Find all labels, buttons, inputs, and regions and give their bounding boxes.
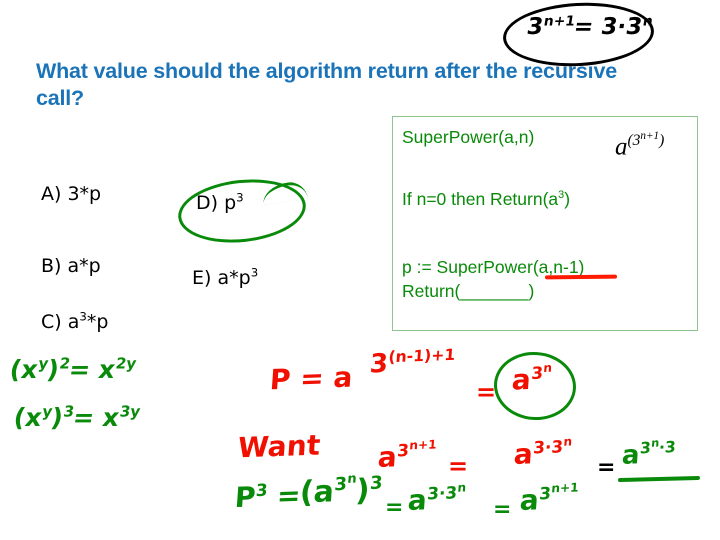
option-e-label: E) bbox=[192, 267, 211, 289]
p-eq-a: a bbox=[332, 361, 353, 395]
handwriting-p-cubed-equals-1: = bbox=[385, 495, 403, 520]
handwriting-p-equals: P = a bbox=[270, 362, 352, 395]
option-c-tail: *p bbox=[87, 311, 109, 333]
handwriting-want-lhs: a3n+1 bbox=[378, 440, 436, 473]
option-b-label: B) bbox=[41, 255, 61, 277]
p3-p: P bbox=[234, 480, 257, 514]
option-a-label: A) bbox=[41, 183, 61, 205]
p3-r1-exp-sup: n bbox=[457, 480, 467, 494]
p3-sup: 3 bbox=[255, 480, 268, 500]
p3-close-sup: 3 bbox=[369, 473, 383, 494]
green-underline-annotation bbox=[618, 476, 700, 482]
answer-option-b[interactable]: B) a*p bbox=[41, 255, 101, 277]
handwriting-p-equals-sign: = bbox=[476, 378, 496, 406]
formula-exp-close: ) bbox=[659, 132, 664, 149]
rule1-sup3: 2y bbox=[114, 355, 137, 373]
handwriting-p-cubed-result-2: a3n+1 bbox=[520, 483, 578, 516]
rule2-sup3: 3y bbox=[118, 403, 141, 421]
p3-r2-exp-base: 3n+1 bbox=[539, 482, 579, 503]
handwriting-p-cubed-result-1: a3·3n bbox=[408, 483, 465, 516]
code-base-case-post: ) bbox=[564, 189, 570, 209]
want-text: Want bbox=[237, 429, 322, 465]
handwriting-want-rhs: a3·3n bbox=[514, 437, 571, 470]
code-line-base-case: If n=0 then Return(a3) bbox=[402, 189, 570, 210]
want-green-a: a bbox=[621, 440, 641, 471]
slide-canvas: What value should the algorithm return a… bbox=[0, 0, 720, 540]
want-lhs-exp-base: 3n+1 bbox=[397, 439, 437, 460]
superpower-result-formula: a(3n+1) bbox=[615, 123, 664, 160]
top-annotation-eq: = 3·3 bbox=[572, 14, 644, 40]
answer-option-c[interactable]: C) a3*p bbox=[41, 311, 108, 333]
green-circle-annotation-result bbox=[492, 349, 579, 423]
p-exp-base: 3 bbox=[369, 349, 389, 380]
option-c-exponent: 3 bbox=[79, 310, 87, 324]
option-b-text: a*p bbox=[68, 255, 101, 277]
want-rhs-exp-base: 3·3n bbox=[533, 436, 573, 457]
p-exp-sup: (n-1)+1 bbox=[388, 346, 456, 366]
handwriting-exponent-rule-square: (xy)2= x2y bbox=[10, 355, 135, 384]
want-lhs-a: a bbox=[377, 440, 398, 474]
handwriting-p-cubed-parenthetical: (a3n)3 bbox=[300, 474, 382, 509]
handwriting-exponent-rule-cube: (xy)3= x3y bbox=[14, 403, 139, 432]
rule2-eq: = x bbox=[71, 403, 121, 432]
handwriting-p-exponent: 3(n-1)+1 bbox=[370, 348, 455, 378]
handwriting-p-cubed-equals-2: = bbox=[493, 497, 511, 522]
red-underline-annotation bbox=[545, 275, 617, 280]
p-eq-label: P = bbox=[269, 362, 325, 397]
option-c-base: a bbox=[68, 311, 80, 333]
handwriting-want-equals-1: = bbox=[448, 452, 468, 480]
formula-exp-outer: (3 bbox=[628, 132, 641, 149]
handwriting-want-green-result: a3n·3 bbox=[622, 440, 675, 470]
want-rhs-exp-sup: n bbox=[563, 434, 573, 448]
code-line-return-blank: Return(_______) bbox=[402, 281, 534, 302]
handwriting-power-identity: 3n+1= 3·3n bbox=[527, 14, 652, 40]
handwriting-want-equals-2: = bbox=[597, 455, 615, 480]
p3-r1-exp-base: 3·3n bbox=[427, 482, 467, 503]
want-lhs-exp-sup: n+1 bbox=[409, 437, 437, 452]
rule1-eq: = x bbox=[67, 355, 117, 384]
want-green-exp-base: 3n·3 bbox=[639, 438, 676, 457]
rule2-pre: (x bbox=[12, 403, 44, 432]
handwriting-want-label: Want bbox=[238, 430, 320, 463]
rule1-pre: (x bbox=[8, 355, 40, 384]
p3-inner-base: 3n bbox=[334, 473, 357, 495]
option-e-exponent: 3 bbox=[251, 266, 259, 280]
p3-open: (a bbox=[299, 474, 336, 510]
code-base-case-pre: If n=0 then Return(a bbox=[402, 189, 558, 209]
option-a-text: 3*p bbox=[67, 183, 101, 205]
answer-option-e[interactable]: E) a*p3 bbox=[192, 267, 258, 289]
code-line-signature: SuperPower(a,n) bbox=[402, 127, 534, 148]
pseudocode-box: SuperPower(a,n) a(3n+1) If n=0 then Retu… bbox=[392, 116, 698, 331]
p3-r2-exp-sup: n+1 bbox=[551, 480, 579, 495]
formula-exp-inner: n+1 bbox=[640, 130, 659, 142]
top-annotation-sup: n+1 bbox=[543, 13, 577, 29]
page-title: What value should the algorithm return a… bbox=[36, 58, 636, 112]
formula-base: a bbox=[615, 133, 628, 160]
want-rhs-a: a bbox=[513, 437, 534, 471]
want-green-exp-tail: ·3 bbox=[658, 438, 676, 457]
option-c-label: C) bbox=[41, 311, 62, 333]
p3-r2-a: a bbox=[519, 483, 540, 517]
p3-r1-a: a bbox=[407, 483, 428, 517]
option-e-base: a*p bbox=[217, 267, 250, 289]
answer-option-a[interactable]: A) 3*p bbox=[41, 183, 101, 205]
handwriting-p-cubed: P3 = bbox=[235, 480, 300, 513]
